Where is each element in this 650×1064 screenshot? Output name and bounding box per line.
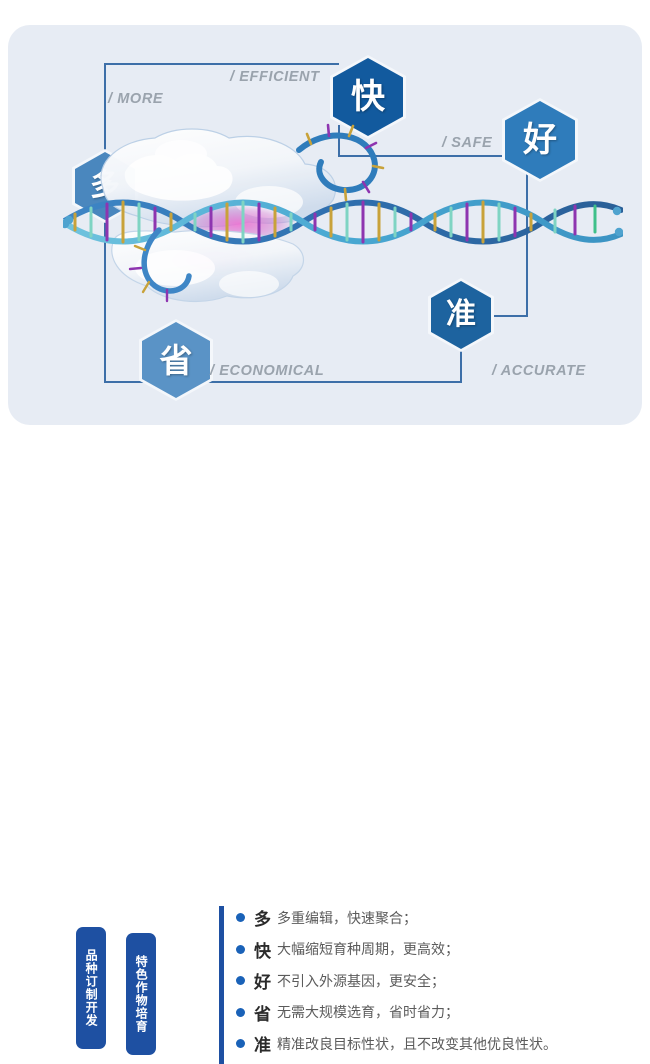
- list-item-text: 无需大规模选育，省时省力；: [277, 1002, 459, 1022]
- list-item-key: 省: [254, 1000, 271, 1025]
- bullet-dot-icon: [236, 945, 245, 954]
- list-item-text: 大幅缩短育种周期，更高效；: [277, 939, 459, 959]
- dna-protein-illustration: [63, 110, 623, 320]
- list-item: 省 无需大规模选育，省时省力；: [236, 997, 646, 1029]
- tag-variety-custom-development[interactable]: 品种订制开发: [76, 927, 106, 1049]
- list-item: 快 大幅缩短育种周期，更高效；: [236, 934, 646, 966]
- diagram-panel: 多 快 好 准 省 / MORE / EFFICIENT / SAFE / EC…: [8, 25, 642, 425]
- caption-more: / MORE: [108, 91, 163, 107]
- list-item-key: 准: [254, 1031, 271, 1056]
- list-item-key: 快: [254, 937, 271, 962]
- bullet-dot-icon: [236, 976, 245, 985]
- bullet-dot-icon: [236, 1039, 245, 1048]
- bottom-content: 品种订制开发 特色作物培育 多 多重编辑，快速聚合； 快 大幅缩短育种周期，更高…: [0, 440, 650, 643]
- hexagon-economical[interactable]: 省: [139, 319, 213, 401]
- hexagon-efficient-label: 快: [351, 80, 385, 114]
- caption-efficient: / EFFICIENT: [230, 69, 320, 85]
- list-item: 多 多重编辑，快速聚合；: [236, 902, 646, 934]
- bullet-accent-bar: [219, 906, 224, 1064]
- caption-economical: / ECONOMICAL: [210, 363, 324, 379]
- list-item: 好 不引入外源基因，更安全；: [236, 965, 646, 997]
- bullet-dot-icon: [236, 1008, 245, 1017]
- caption-accurate: / ACCURATE: [492, 363, 586, 379]
- list-item-text: 精准改良目标性状，且不改变其他优良性状。: [277, 1034, 557, 1054]
- tag-specialty-crop-breeding[interactable]: 特色作物培育: [126, 933, 156, 1055]
- list-item-text: 不引入外源基因，更安全；: [277, 971, 445, 991]
- list-item-key: 好: [254, 968, 271, 993]
- list-item: 准 精准改良目标性状，且不改变其他优良性状。: [236, 1028, 646, 1060]
- hexagon-economical-label: 省: [160, 344, 193, 377]
- feature-list: 多 多重编辑，快速聚合； 快 大幅缩短育种周期，更高效； 好 不引入外源基因，更…: [236, 902, 646, 1060]
- list-item-key: 多: [254, 905, 271, 930]
- list-item-text: 多重编辑，快速聚合；: [277, 908, 417, 928]
- bullet-dot-icon: [236, 913, 245, 922]
- connector-top-horizontal: [104, 63, 339, 65]
